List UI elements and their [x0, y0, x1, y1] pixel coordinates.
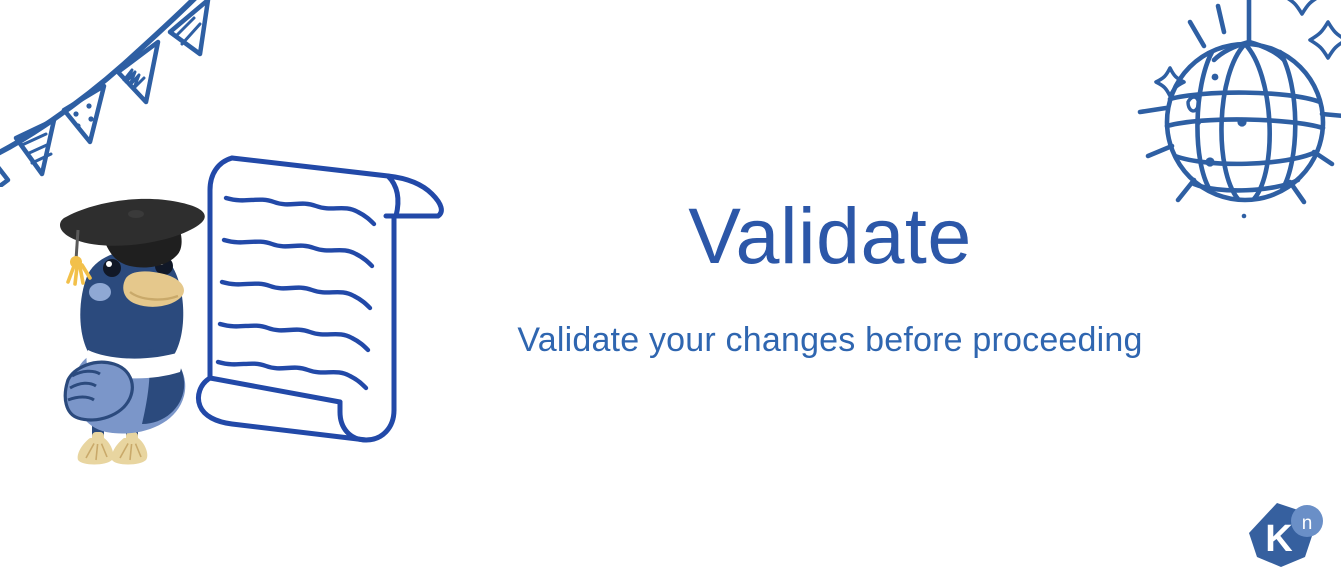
logo-badge-letter: n	[1302, 513, 1313, 534]
page-title: Validate	[470, 196, 1190, 275]
brand-logo[interactable]: K n	[1243, 501, 1329, 577]
bird-mascot	[52, 182, 242, 472]
bird-feet	[78, 414, 148, 465]
bunting-decoration	[0, 0, 234, 187]
slide-text-block: Validate Validate your changes before pr…	[470, 196, 1190, 357]
page-subtitle: Validate your changes before proceeding	[470, 323, 1190, 357]
scroll-illustration	[170, 128, 470, 458]
graduation-cap	[60, 199, 205, 284]
logo-letter: K	[1265, 518, 1293, 560]
slide-canvas: Validate Validate your changes before pr…	[0, 0, 1341, 585]
